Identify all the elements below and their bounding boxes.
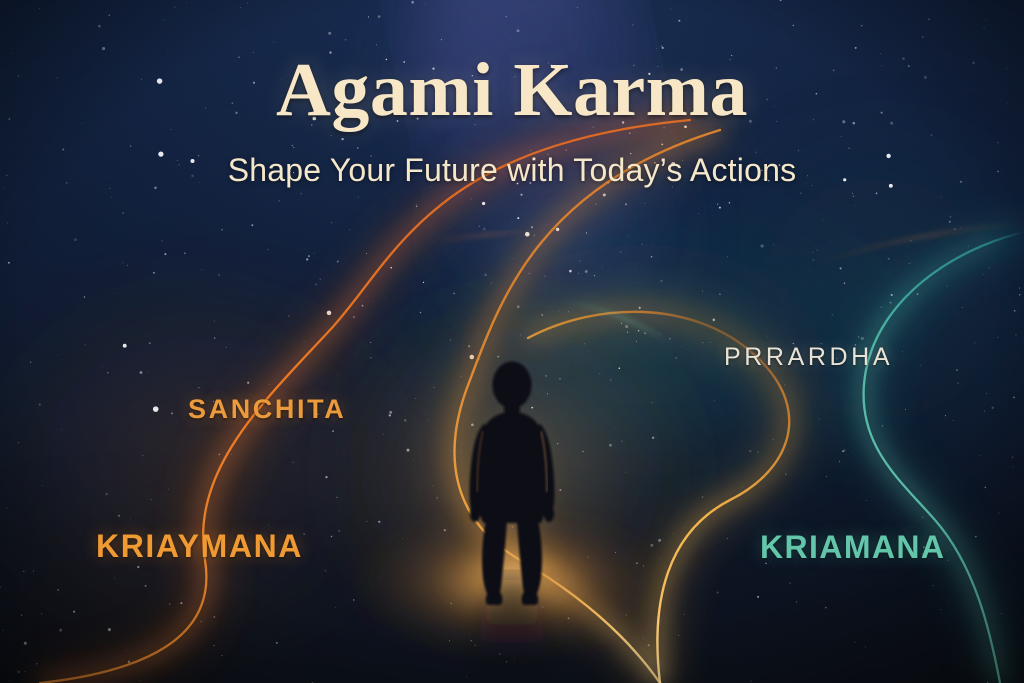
page-subtitle: Shape Your Future with Today’s Actions xyxy=(0,152,1024,189)
artwork-canvas: Agami Karma Shape Your Future with Today… xyxy=(0,0,1024,683)
label-kriamana: KRIAMANA xyxy=(760,529,945,566)
label-kriaymana: KRIAYMANA xyxy=(96,528,303,565)
label-sanchita: SANCHITA xyxy=(188,394,346,425)
page-title: Agami Karma xyxy=(0,52,1024,128)
label-prrardha: PRRARDHA xyxy=(724,343,893,372)
